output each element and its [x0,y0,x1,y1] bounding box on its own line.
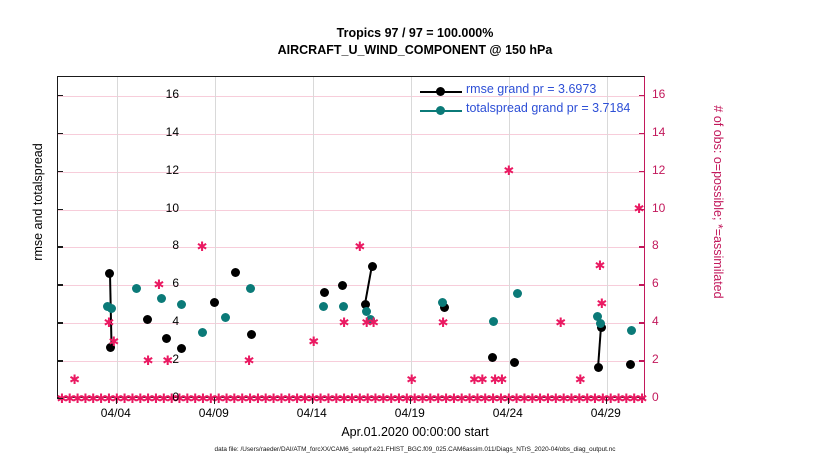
y-axis-right-tick-label: 4 [652,314,692,328]
legend-point-marker [436,106,445,115]
y-axis-left-tick-mark [57,133,63,134]
x-axis-tick-mark [312,398,313,404]
x-axis-tick-mark [116,398,117,404]
y-axis-left-tick-mark [57,246,63,247]
y-axis-left-label: rmse and totalspread [31,72,45,332]
y-axis-right-tick-label: 8 [652,238,692,252]
legend-item: rmse grand pr = 3.6973 [420,82,646,101]
totalspread-point-marker [339,302,348,311]
y-axis-right-tick-mark [639,133,645,134]
totalspread-point-marker [319,302,328,311]
totalspread-point-marker [438,298,447,307]
y-axis-right-tick-label: 0 [652,390,692,404]
obs-assimilated-marker: ✱ [596,300,605,309]
y-axis-left-tick-label: 6 [139,276,179,290]
x-axis-tick-label: 04/19 [375,406,445,420]
y-axis-left-tick-label: 16 [139,87,179,101]
totalspread-point-marker [198,328,207,337]
y-axis-right-tick-mark [639,284,645,285]
totalspread-point-marker [221,313,230,322]
y-axis-left-tick-label: 10 [139,201,179,215]
legend-label: totalspread grand pr = 3.7184 [466,101,630,115]
obs-assimilated-marker: ✱ [496,376,505,385]
chart-figure: Tropics 97 / 97 = 100.000% AIRCRAFT_U_WI… [0,0,830,470]
x-axis-tick-mark [606,398,607,404]
x-axis-tick-label: 04/29 [571,406,641,420]
y-axis-right-tick-label: 2 [652,352,692,366]
obs-assimilated-marker: ✱ [477,376,486,385]
rmse-point-marker [247,330,256,339]
y-axis-left-tick-label: 14 [139,125,179,139]
y-axis-left-tick-label: 0 [139,390,179,404]
y-axis-right-tick-mark [639,209,645,210]
vertical-gridline [411,77,412,397]
chart-legend: rmse grand pr = 3.6973totalspread grand … [420,82,646,120]
legend-item: totalspread grand pr = 3.7184 [420,101,646,120]
rmse-point-marker [488,353,497,362]
rmse-point-marker [626,360,635,369]
x-axis-tick-label: 04/04 [81,406,151,420]
totalspread-point-marker [177,300,186,309]
rmse-point-marker [594,363,603,372]
obs-assimilated-marker: ✱ [108,338,117,347]
obs-assimilated-marker: ✱ [438,319,447,328]
obs-assimilated-marker: ✱ [575,376,584,385]
y-axis-left-tick-mark [57,360,63,361]
obs-assimilated-marker: ✱ [555,319,564,328]
rmse-point-marker [162,334,171,343]
obs-assimilated-marker: ✱ [69,376,78,385]
rmse-point-marker [231,268,240,277]
y-axis-left-tick-label: 12 [139,163,179,177]
x-axis-tick-mark [214,398,215,404]
rmse-point-marker [320,288,329,297]
y-axis-right-tick-label: 14 [652,125,692,139]
vertical-gridline [509,77,510,397]
totalspread-point-marker [246,284,255,293]
x-axis-label: Apr.01.2020 00:00:00 start [0,425,830,439]
totalspread-point-marker [107,304,116,313]
obs-assimilated-marker: ✱ [594,262,603,271]
vertical-gridline [607,77,608,397]
y-axis-left-tick-label: 8 [139,238,179,252]
y-axis-right-tick-mark [639,360,645,361]
y-axis-left-tick-label: 4 [139,314,179,328]
y-axis-right-tick-mark [639,171,645,172]
totalspread-point-marker [489,317,498,326]
rmse-point-marker [105,269,114,278]
y-axis-right-tick-mark [639,398,645,399]
vertical-gridline [215,77,216,397]
y-axis-left-tick-mark [57,209,63,210]
y-axis-left-tick-mark [57,322,63,323]
x-axis-tick-label: 04/14 [277,406,347,420]
chart-title-line1: Tropics 97 / 97 = 100.000% [0,26,830,40]
rmse-point-marker [510,358,519,367]
legend-label: rmse grand pr = 3.6973 [466,82,596,96]
y-axis-right-tick-label: 16 [652,87,692,101]
y-axis-left-tick-mark [57,398,63,399]
y-axis-right-tick-mark [639,322,645,323]
rmse-point-marker [368,262,377,271]
obs-assimilated-marker: ✱ [308,338,317,347]
y-axis-right-tick-label: 10 [652,201,692,215]
totalspread-point-marker [627,326,636,335]
obs-assimilated-marker: ✱ [244,357,253,366]
y-axis-right-tick-label: 12 [652,163,692,177]
x-axis-tick-label: 04/09 [179,406,249,420]
obs-assimilated-marker: ✱ [368,319,377,328]
chart-title-line2: AIRCRAFT_U_WIND_COMPONENT @ 150 hPa [0,43,830,57]
totalspread-point-marker [157,294,166,303]
rmse-point-marker [338,281,347,290]
y-axis-left-tick-mark [57,284,63,285]
obs-assimilated-marker: ✱ [503,167,512,176]
y-axis-left-tick-mark [57,171,63,172]
x-axis-tick-mark [508,398,509,404]
y-axis-left-tick-mark [57,95,63,96]
obs-assimilated-marker: ✱ [103,319,112,328]
x-axis-tick-label: 04/24 [473,406,543,420]
y-axis-right-tick-mark [639,246,645,247]
obs-assimilated-marker: ✱ [406,376,415,385]
y-axis-right-label: # of obs: o=possible; *=assimilated [711,62,725,342]
y-axis-right-tick-label: 6 [652,276,692,290]
x-axis-tick-mark [410,398,411,404]
totalspread-point-marker [513,289,522,298]
y-axis-right-tick-mark [639,95,645,96]
obs-assimilated-marker: ✱ [197,243,206,252]
legend-point-marker [436,87,445,96]
rmse-point-marker [210,298,219,307]
obs-assimilated-marker: ✱ [354,243,363,252]
data-file-caption: data file: /Users/raeder/DAI/ATM_forcXX/… [0,446,830,453]
obs-assimilated-marker: ✱ [339,319,348,328]
y-axis-left-tick-label: 2 [139,352,179,366]
